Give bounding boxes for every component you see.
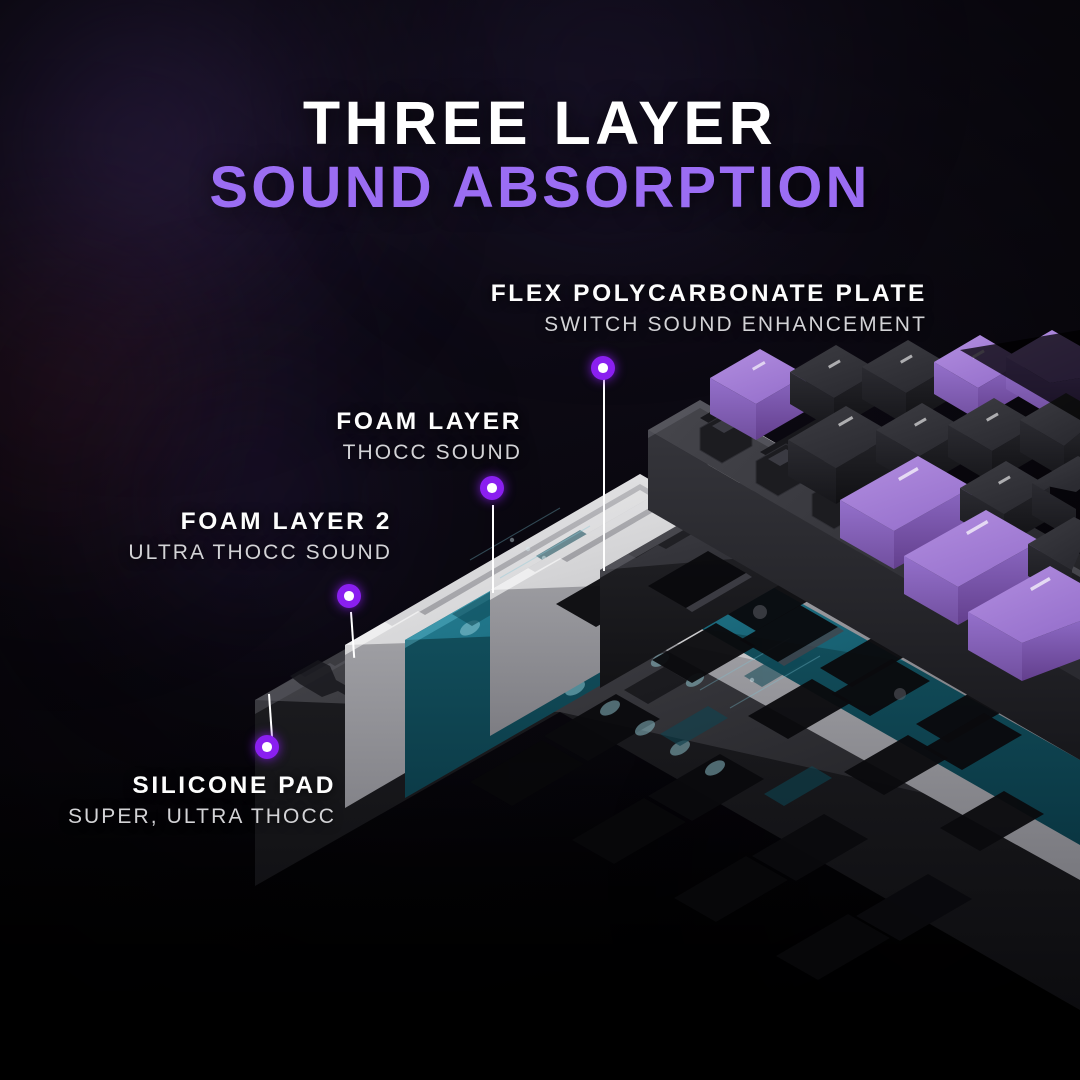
callout-subtitle: SWITCH SOUND ENHANCEMENT: [455, 313, 927, 337]
callout-title: SILICONE PAD: [52, 772, 336, 800]
callout-subtitle: SUPER, ULTRA THOCC: [52, 805, 336, 829]
callout-foam-layer-2[interactable]: FOAM LAYER 2 ULTRA THOCC SOUND: [110, 508, 392, 565]
callout-title: FOAM LAYER: [300, 408, 522, 436]
callout-dot-flex-polycarbonate-plate[interactable]: [591, 356, 615, 380]
callout-dot-foam-layer[interactable]: [480, 476, 504, 500]
callout-leader-line: [492, 505, 494, 593]
callout-dot-foam-layer-2[interactable]: [337, 584, 361, 608]
callout-leader-line: [350, 612, 355, 658]
callout-subtitle: THOCC SOUND: [300, 441, 522, 465]
callout-leader-line: [603, 375, 605, 571]
callout-title: FOAM LAYER 2: [110, 508, 392, 536]
callout-flex-polycarbonate-plate[interactable]: FLEX POLYCARBONATE PLATE SWITCH SOUND EN…: [455, 280, 927, 337]
callout-subtitle: ULTRA THOCC SOUND: [110, 541, 392, 565]
callout-foam-layer[interactable]: FOAM LAYER THOCC SOUND: [300, 408, 522, 465]
callout-annotations: FLEX POLYCARBONATE PLATE SWITCH SOUND EN…: [0, 0, 1080, 1080]
infographic-canvas: THREE LAYER SOUND ABSORPTION FLEX POLYCA…: [0, 0, 1080, 1080]
callout-title: FLEX POLYCARBONATE PLATE: [455, 280, 927, 308]
callout-dot-silicone-pad[interactable]: [255, 735, 279, 759]
callout-silicone-pad[interactable]: SILICONE PAD SUPER, ULTRA THOCC: [52, 772, 336, 829]
